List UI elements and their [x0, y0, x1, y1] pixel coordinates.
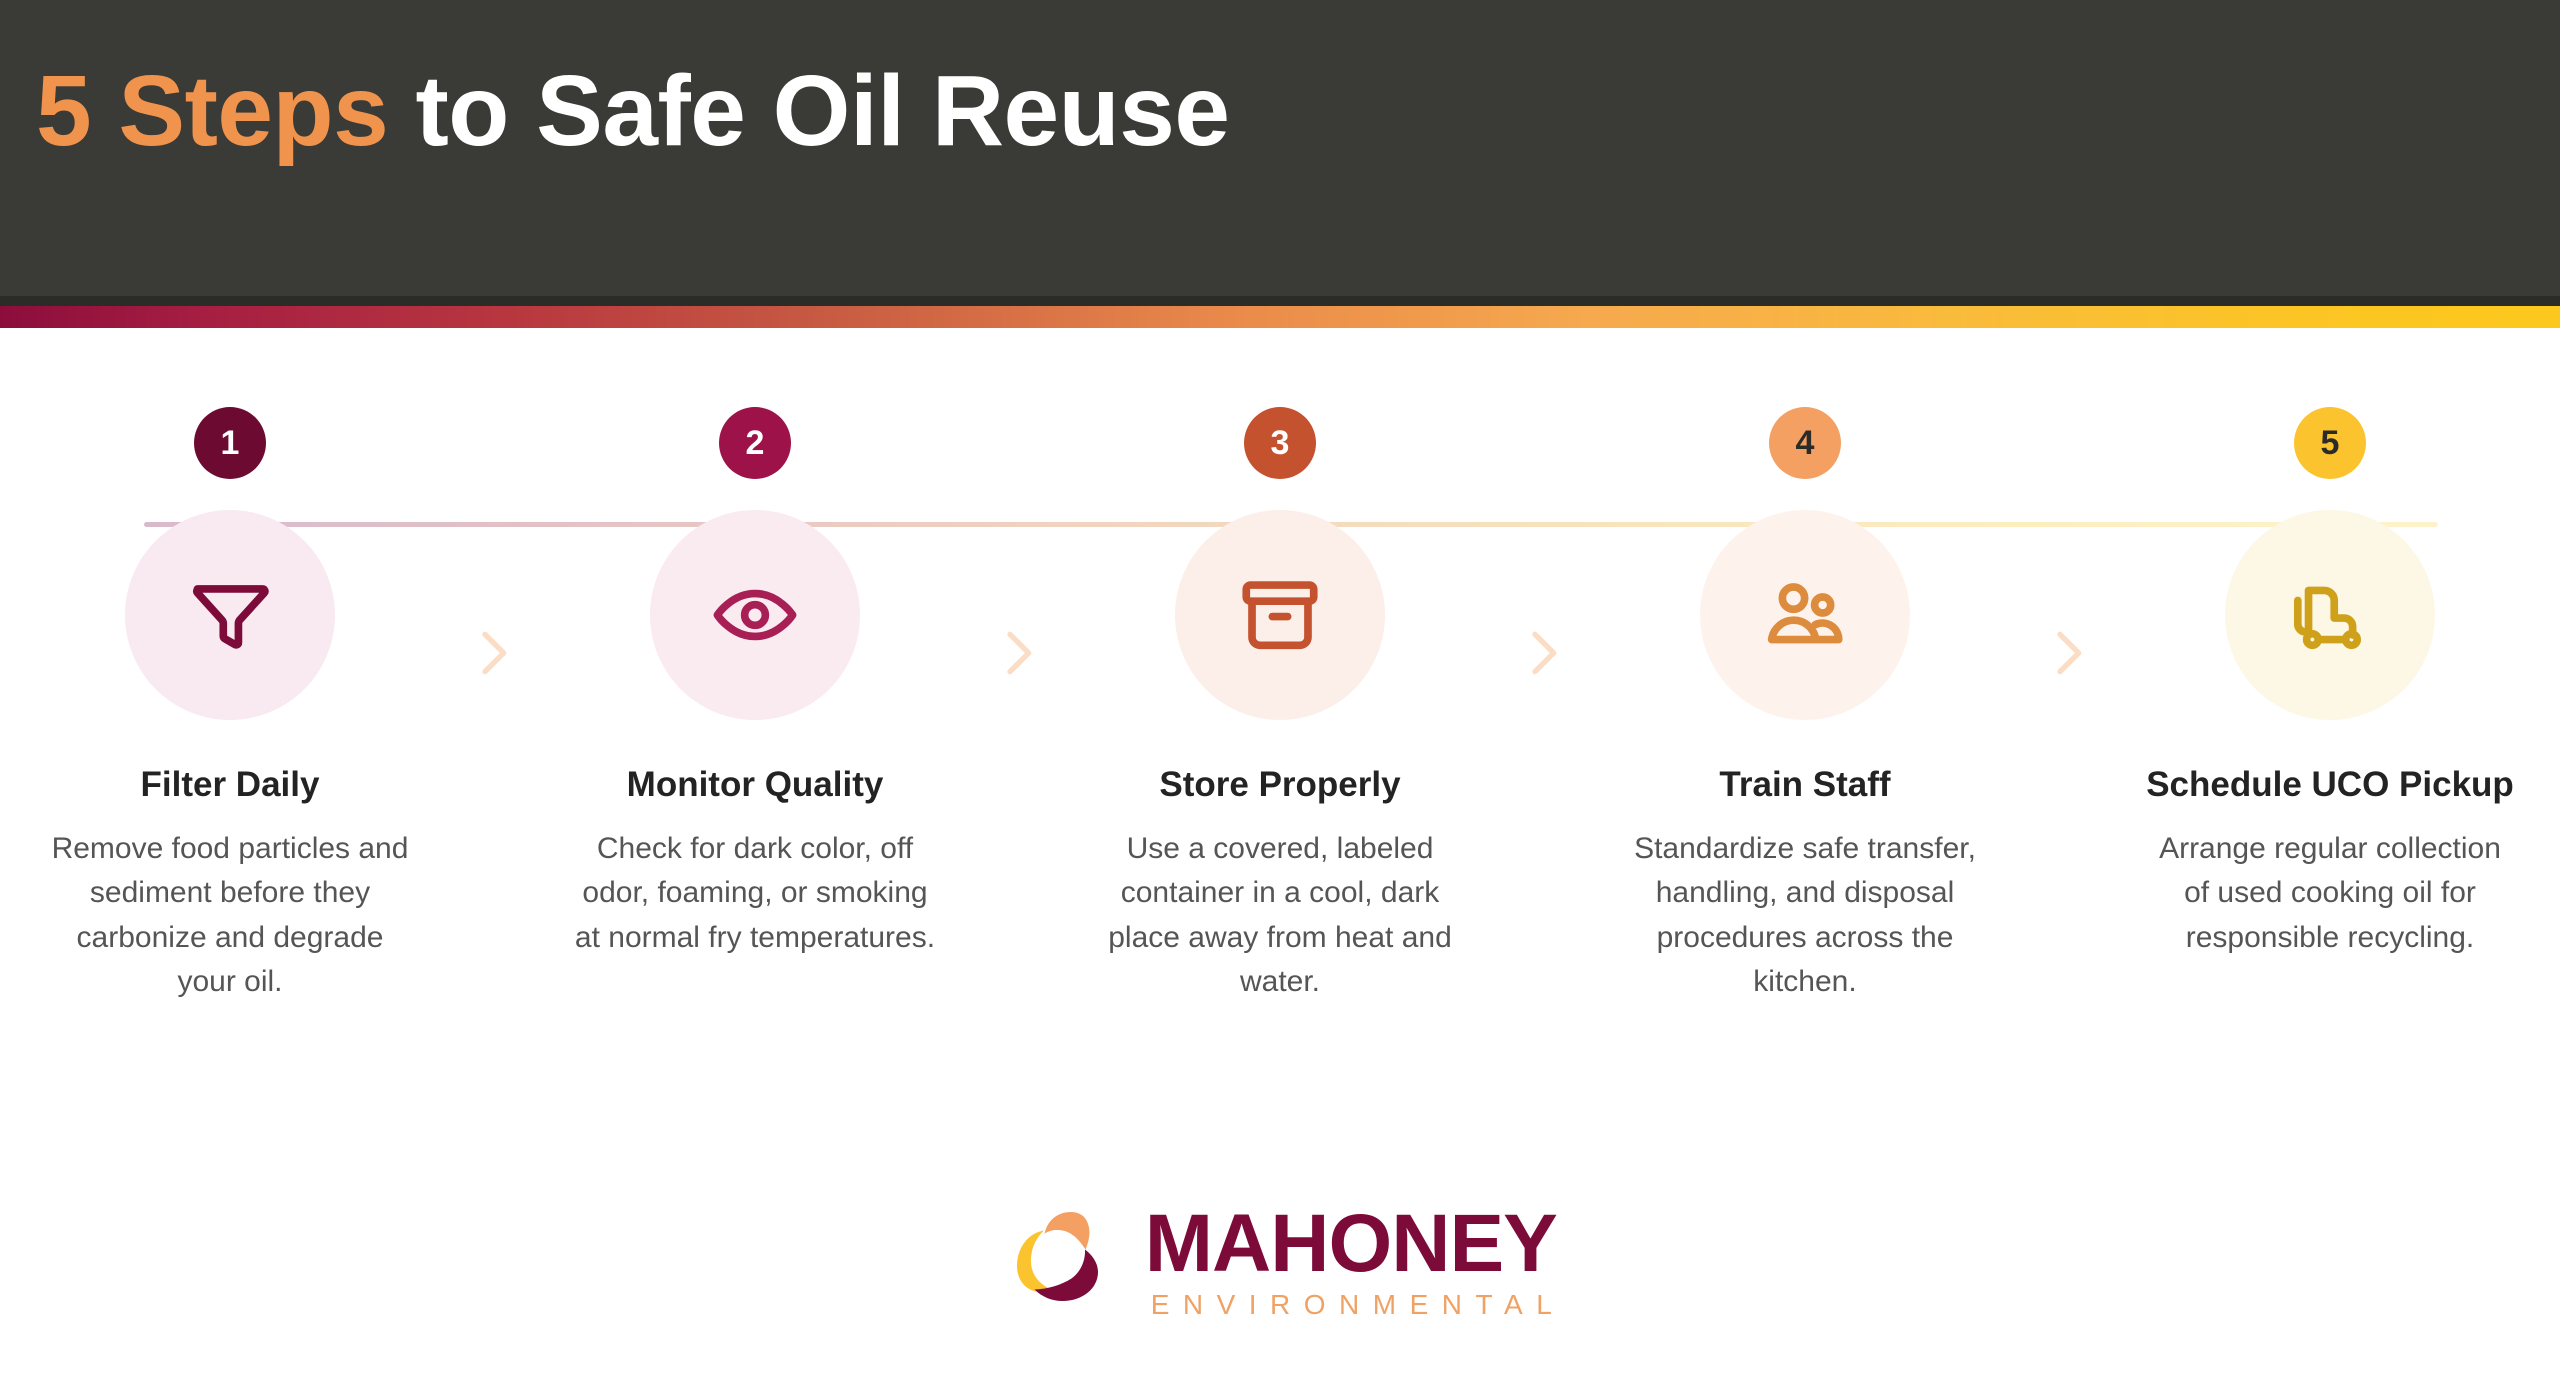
- storage-box-icon: [1234, 569, 1326, 661]
- page-title: 5 Steps to Safe Oil Reuse: [36, 56, 1229, 166]
- page-title-accent: 5 Steps: [36, 55, 388, 167]
- chevron-right-icon: [461, 328, 525, 685]
- step-number-badge-2: 2: [719, 407, 791, 479]
- users-icon: [1759, 569, 1851, 661]
- steps-section: 1 Filter Daily Remove food particles and…: [0, 328, 2560, 1088]
- step-number-badge-1: 1: [194, 407, 266, 479]
- step-title-3: Store Properly: [1159, 764, 1400, 806]
- step-item-2[interactable]: 2 Monitor Quality Check for dark color, …: [545, 328, 965, 960]
- step-description-1: Remove food particles and sediment befor…: [45, 827, 415, 1005]
- mahoney-drops-logo-icon: [995, 1196, 1123, 1324]
- step-title-1: Filter Daily: [141, 764, 320, 806]
- step-icon-circle-4: [1700, 510, 1910, 720]
- logo-lockup: MAHONEY ENVIRONMENTAL: [995, 1196, 1566, 1324]
- steps-row: 1 Filter Daily Remove food particles and…: [0, 328, 2560, 1088]
- step-description-2: Check for dark color, off odor, foaming,…: [570, 827, 940, 960]
- step-number-badge-3: 3: [1244, 407, 1316, 479]
- logo-text-block: MAHONEY ENVIRONMENTAL: [1145, 1205, 1566, 1320]
- brand-logo: MAHONEY ENVIRONMENTAL: [0, 1175, 2560, 1345]
- eye-icon: [709, 569, 801, 661]
- step-description-3: Use a covered, labeled container in a co…: [1095, 827, 1465, 1005]
- header-gradient-bar: [0, 306, 2560, 328]
- step-separator-2: [965, 328, 1070, 1088]
- logo-tagline: ENVIRONMENTAL: [1145, 1291, 1566, 1319]
- step-number-badge-4: 4: [1769, 407, 1841, 479]
- step-number-badge-5: 5: [2294, 407, 2366, 479]
- step-item-3[interactable]: 3 Store Properly Use a covered, labeled …: [1070, 328, 1490, 1005]
- step-icon-circle-1: [125, 510, 335, 720]
- step-separator-1: [440, 328, 545, 1088]
- logo-wordmark: MAHONEY: [1145, 1205, 1566, 1283]
- step-description-5: Arrange regular collection of used cooki…: [2145, 827, 2515, 960]
- chevron-right-icon: [986, 328, 1050, 685]
- step-icon-circle-3: [1175, 510, 1385, 720]
- step-title-5: Schedule UCO Pickup: [2146, 764, 2514, 806]
- step-description-4: Standardize safe transfer, handling, and…: [1620, 827, 1990, 1005]
- step-title-4: Train Staff: [1719, 764, 1890, 806]
- funnel-icon: [184, 569, 276, 661]
- page-title-rest: to Safe Oil Reuse: [388, 55, 1229, 167]
- header-underline: [0, 296, 2560, 306]
- step-item-4[interactable]: 4 Train Staff Standardize safe transfer,…: [1595, 328, 2015, 1005]
- step-item-1[interactable]: 1 Filter Daily Remove food particles and…: [20, 328, 440, 1005]
- step-item-5[interactable]: 5 Schedule UCO Pickup Arrange regular co…: [2120, 328, 2540, 960]
- step-separator-4: [2015, 328, 2120, 1088]
- chevron-right-icon: [2036, 328, 2100, 685]
- chevron-right-icon: [1511, 328, 1575, 685]
- step-icon-circle-2: [650, 510, 860, 720]
- step-title-2: Monitor Quality: [627, 764, 884, 806]
- page-header: 5 Steps to Safe Oil Reuse: [0, 0, 2560, 305]
- step-separator-3: [1490, 328, 1595, 1088]
- step-icon-circle-5: [2225, 510, 2435, 720]
- forklift-truck-icon: [2284, 569, 2376, 661]
